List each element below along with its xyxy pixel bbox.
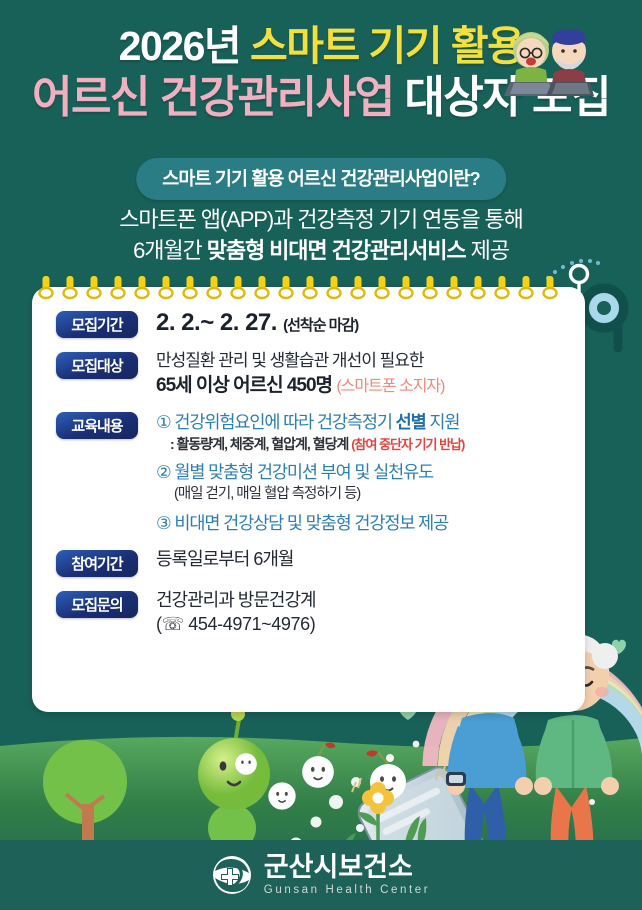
elderly-couple-laptop-illustration [494, 26, 604, 98]
education-item-1-sub-warning: (참여 중단자 기기 반납) [351, 437, 464, 452]
education-item-1-text-before: 건강위험요인에 따라 건강측정기 [171, 412, 396, 432]
row-inquiry: 모집문의 건강관리과 방문건강계 (☏ 454-4971~4976) [32, 589, 585, 637]
education-item-2-sub: (매일 걷기, 매일 혈압 측정하기 등) [174, 485, 585, 505]
recruitment-target-line1: 만성질환 관리 및 생활습관 개선이 필요한 [156, 350, 585, 373]
gunsan-health-center-logo-icon [212, 855, 252, 895]
footer-logo-text: 군산시보건소 Gunsan Health Center [264, 854, 430, 897]
row-participation-period: 참여기간 등록일로부터 6개월 [32, 548, 585, 577]
recruitment-period-value: 2. 2.~ 2. 27. (선착순 마감) [156, 309, 585, 337]
notepad-spiral-bindings [32, 274, 585, 304]
row-body-recruitment-target: 만성질환 관리 및 생활습관 개선이 필요한 65세 이상 어르신 450명 (… [156, 350, 585, 398]
info-rows: 모집기간 2. 2.~ 2. 27. (선착순 마감) 모집대상 만성질환 관리… [32, 287, 585, 649]
title-highlight-smart-device: 스마트 기기 활용 [250, 23, 523, 69]
education-item-1-text-bold: 선별 [396, 412, 426, 432]
education-item-3: ③ 비대면 건강상담 및 맞춤형 건강정보 제공 [156, 511, 585, 535]
title-year: 2026년 [119, 23, 240, 69]
education-item-3-text: 비대면 건강상담 및 맞춤형 건강정보 제공 [171, 513, 449, 533]
recruitment-target-line2: 65세 이상 어르신 450명 (스마트폰 소지자) [156, 373, 585, 398]
inquiry-department: 건강관리과 방문건강계 [156, 589, 585, 613]
description-line-2-suffix: 제공 [466, 238, 509, 263]
row-body-participation-period: 등록일로부터 6개월 [156, 548, 585, 572]
recruitment-target-count: 65세 이상 어르신 450명 [156, 375, 332, 396]
badge-education-content: 교육내용 [56, 412, 138, 439]
row-body-recruitment-period: 2. 2.~ 2. 27. (선착순 마감) [156, 309, 585, 337]
education-item-1: ① 건강위험요인에 따라 건강측정기 선별 지원 [156, 410, 585, 434]
badge-inquiry: 모집문의 [56, 591, 138, 618]
poster-header: 2026년 스마트 기기 활용 어르신 건강관리사업 대상자 모집 [0, 0, 642, 278]
education-item-1-sub-text: : 활동량계, 체중계, 혈압계, 혈당계 [170, 436, 351, 452]
badge-recruitment-period: 모집기간 [56, 311, 138, 338]
poster-footer: 군산시보건소 Gunsan Health Center [0, 840, 642, 910]
education-item-1-text-after: 지원 [426, 412, 460, 432]
inquiry-phone: (☏ 454-4971~4976) [156, 613, 585, 637]
education-item-1-sub: : 활동량계, 체중계, 혈압계, 혈당계 (참여 중단자 기기 반납) [170, 435, 585, 454]
info-card: 모집기간 2. 2.~ 2. 27. (선착순 마감) 모집대상 만성질환 관리… [32, 287, 585, 712]
row-recruitment-target: 모집대상 만성질환 관리 및 생활습관 개선이 필요한 65세 이상 어르신 4… [32, 350, 585, 398]
description-line-2-prefix: 6개월간 [133, 238, 207, 263]
footer-organization-english: Gunsan Health Center [264, 885, 430, 897]
description-line-1: 스마트폰 앱(APP)과 건강측정 기기 연동을 통해 [0, 205, 642, 234]
row-recruitment-period: 모집기간 2. 2.~ 2. 27. (선착순 마감) [32, 309, 585, 338]
poster-root: 2026년 스마트 기기 활용 어르신 건강관리사업 대상자 모집 [0, 0, 642, 910]
row-body-inquiry: 건강관리과 방문건강계 (☏ 454-4971~4976) [156, 589, 585, 637]
badge-recruitment-target: 모집대상 [56, 352, 138, 379]
education-item-1-number: ① [156, 412, 171, 432]
education-item-3-number: ③ [156, 513, 171, 533]
participation-period-value: 등록일로부터 6개월 [156, 548, 585, 572]
education-item-2-number: ② [156, 462, 171, 482]
footer-organization-korean: 군산시보건소 [264, 854, 430, 881]
recruitment-period-dates: 2. 2.~ 2. 27. [156, 309, 277, 336]
title-highlight-senior-program: 어르신 건강관리사업 [32, 73, 394, 122]
recruitment-target-note: (스마트폰 소지자) [336, 378, 444, 395]
subtitle-pill: 스마트 기기 활용 어르신 건강관리사업이란? [136, 158, 506, 200]
recruitment-period-note: (선착순 마감) [283, 317, 358, 334]
row-body-education-content: ① 건강위험요인에 따라 건강측정기 선별 지원 : 활동량계, 체중계, 혈압… [156, 410, 585, 536]
row-education-content: 교육내용 ① 건강위험요인에 따라 건강측정기 선별 지원 : 활동량계, 체중… [32, 410, 585, 536]
education-item-2: ② 월별 맞춤형 건강미션 부여 및 실천유도 [156, 460, 585, 484]
education-item-2-text: 월별 맞춤형 건강미션 부여 및 실천유도 [171, 462, 434, 482]
badge-participation-period: 참여기간 [56, 550, 138, 577]
description-line-2-bold: 맞춤형 비대면 건강관리서비스 [207, 238, 466, 263]
